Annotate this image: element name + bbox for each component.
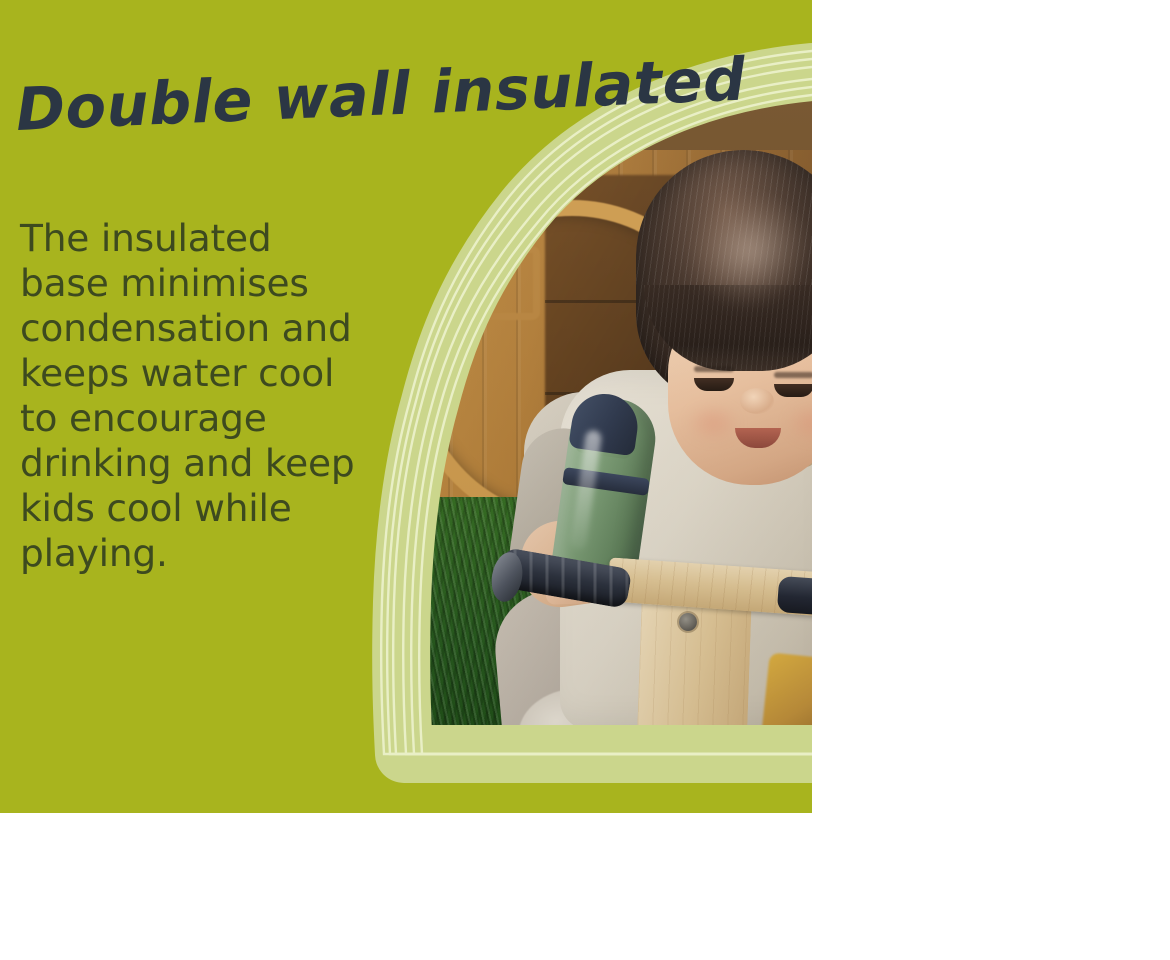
green-promo-panel: Double wall insulated The insulated base… [0, 0, 812, 813]
frame-band-base [401, 72, 812, 754]
frame-band-group [401, 72, 812, 754]
promo-banner: Double wall insulated The insulated base… [0, 0, 1170, 960]
frame-stripe [401, 72, 812, 754]
body-paragraph: The insulated base minimises condensatio… [20, 216, 360, 576]
